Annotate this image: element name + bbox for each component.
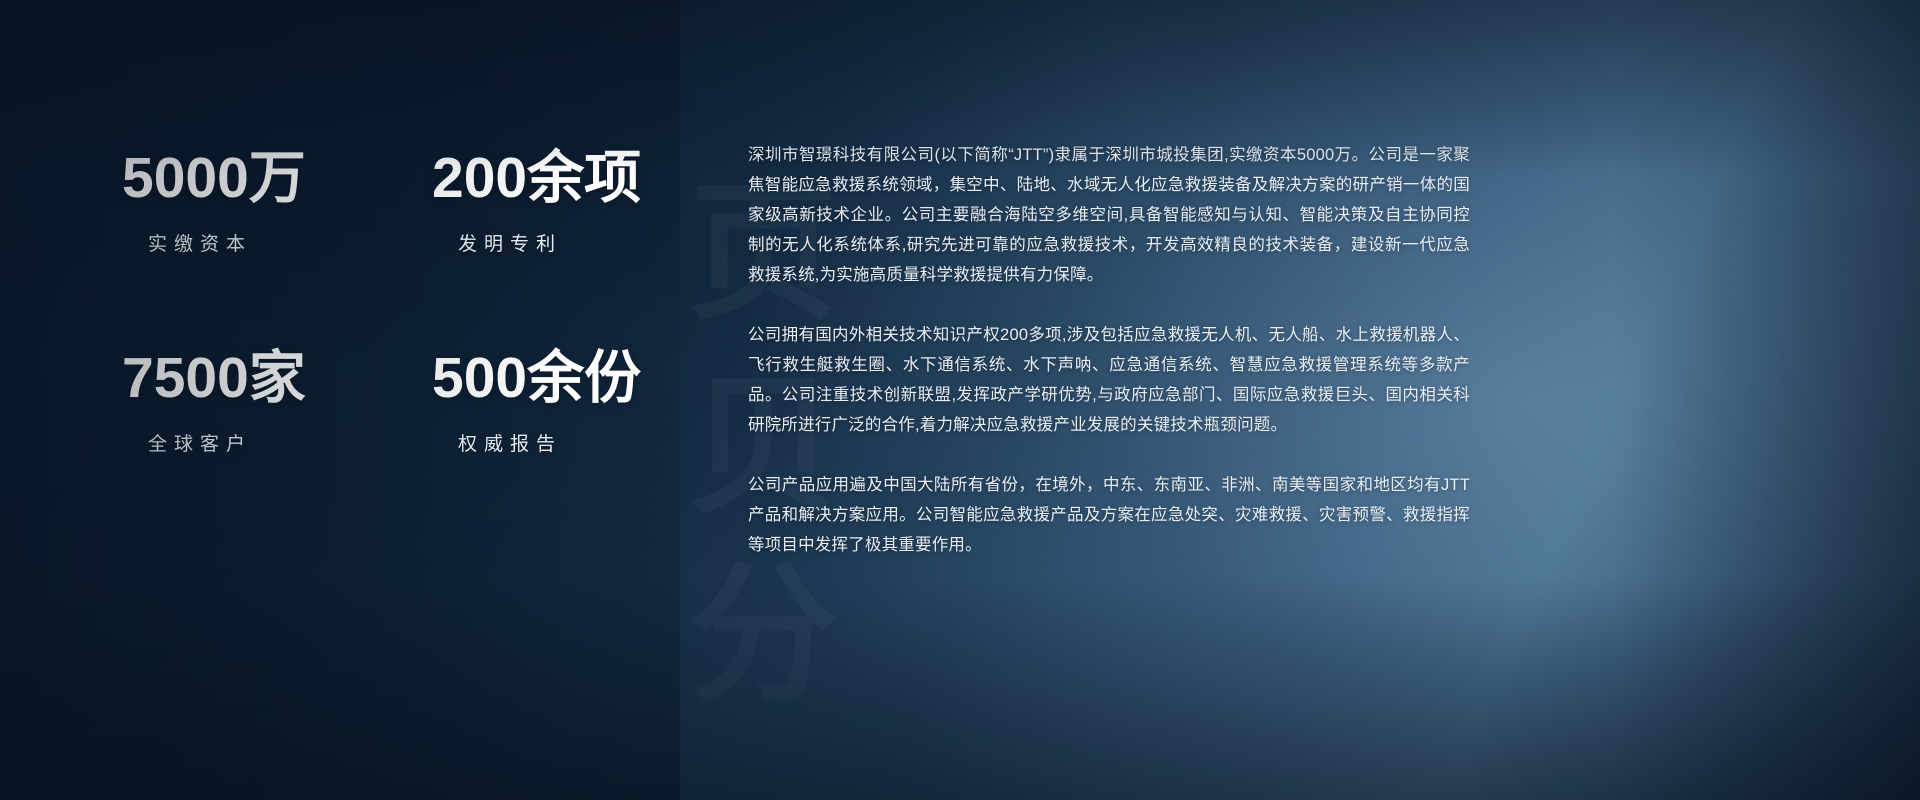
stat-item-global-customers: 7500家 全球客户 bbox=[122, 350, 432, 550]
paragraph-overview: 深圳市智璟科技有限公司(以下简称“JTT”)隶属于深圳市城投集团,实缴资本500… bbox=[748, 140, 1470, 290]
watermark-glyph-3: 分 bbox=[688, 560, 841, 710]
stat-label: 权威报告 bbox=[458, 429, 562, 456]
stat-value: 7500家 bbox=[122, 350, 306, 407]
stat-value: 500余份 bbox=[432, 350, 641, 407]
company-description: 深圳市智璟科技有限公司(以下简称“JTT”)隶属于深圳市城投集团,实缴资本500… bbox=[748, 140, 1470, 560]
stat-label: 全球客户 bbox=[148, 429, 252, 456]
stat-value: 5000万 bbox=[122, 150, 306, 207]
stat-label: 发明专利 bbox=[458, 229, 562, 256]
paragraph-market-coverage: 公司产品应用遍及中国大陆所有省份，在境外，中东、东南亚、非洲、南美等国家和地区均… bbox=[748, 470, 1470, 560]
company-profile-section: 页 贝 分 5000万 实缴资本 200余项 发明专利 7500家 全球客户 5… bbox=[0, 0, 1920, 800]
statistics-grid: 5000万 实缴资本 200余项 发明专利 7500家 全球客户 500余份 权… bbox=[0, 150, 700, 550]
paragraph-intellectual-property: 公司拥有国内外相关技术知识产权200多项,涉及包括应急救援无人机、无人船、水上救… bbox=[748, 320, 1470, 440]
stat-value: 200余项 bbox=[432, 150, 641, 207]
stat-item-invention-patents: 200余项 发明专利 bbox=[432, 150, 742, 350]
stat-label: 实缴资本 bbox=[148, 229, 252, 256]
stat-item-paid-in-capital: 5000万 实缴资本 bbox=[122, 150, 432, 350]
stat-item-authoritative-reports: 500余份 权威报告 bbox=[432, 350, 742, 550]
